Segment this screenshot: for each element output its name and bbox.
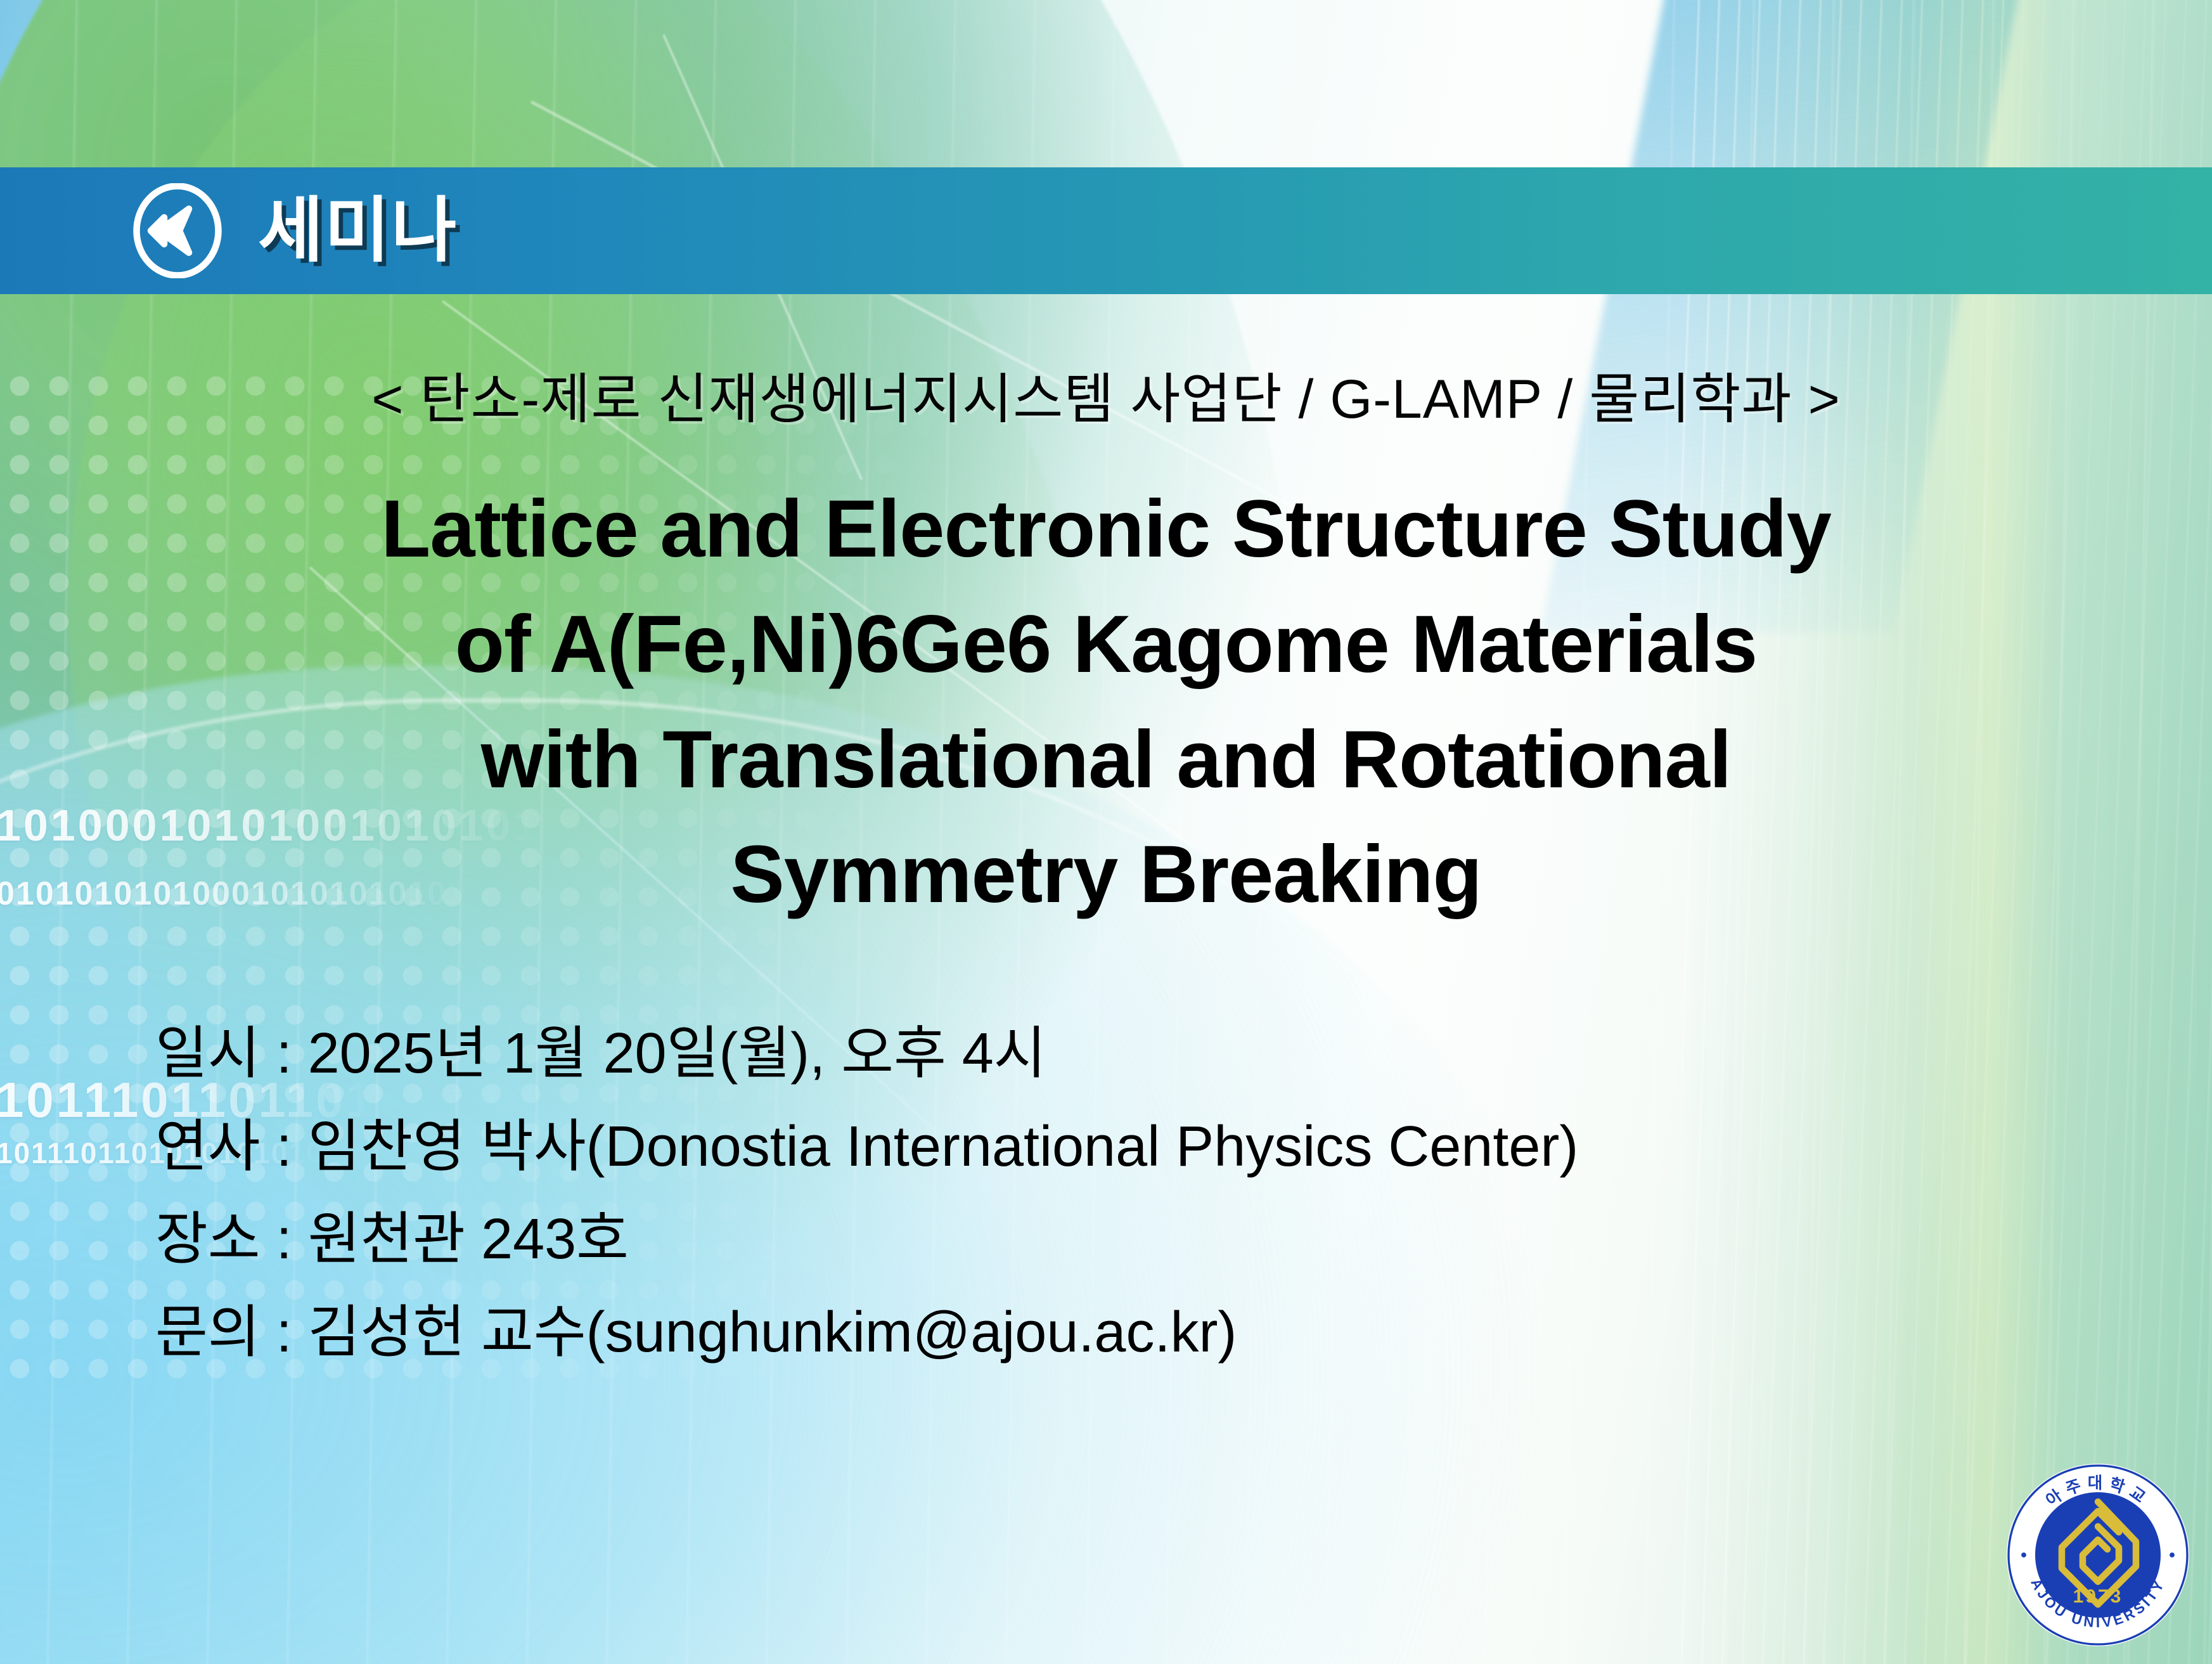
detail-speaker: 연사 : 임찬영 박사(Donostia International Physi… xyxy=(155,1100,2212,1194)
back-button[interactable] xyxy=(130,183,225,278)
detail-datetime: 일시 : 2025년 1월 20일(월), 오후 4시 xyxy=(155,1007,2212,1100)
seminar-poster: 10100010101001010101 0101010101000101010… xyxy=(0,0,2212,1664)
seminar-details: 일시 : 2025년 1월 20일(월), 오후 4시 연사 : 임찬영 박사(… xyxy=(0,1007,2212,1379)
header-bar: 세미나 xyxy=(0,167,2212,294)
organizer-subtitle: < 탄소-제로 신재생에너지시스템 사업단 / G-LAMP / 물리학과 > xyxy=(0,354,2212,434)
title-line-4: Symmetry Breaking xyxy=(70,817,2142,932)
detail-contact: 문의 : 김성헌 교수(sunghunkim@ajou.ac.kr) xyxy=(155,1286,2212,1379)
seminar-title: Lattice and Electronic Structure Study o… xyxy=(0,472,2212,932)
circle-left-arrow-icon xyxy=(130,183,225,278)
ajou-university-logo: 1973 아주대학교 AJOU UNIVERSITY xyxy=(2003,1460,2193,1650)
title-line-2: of A(Fe,Ni)6Ge6 Kagome Materials xyxy=(70,587,2142,702)
header-title: 세미나 xyxy=(258,195,458,266)
title-line-1: Lattice and Electronic Structure Study xyxy=(70,472,2142,587)
title-line-3: with Translational and Rotational xyxy=(70,702,2142,818)
poster-content: < 탄소-제로 신재생에너지시스템 사업단 / G-LAMP / 물리학과 > … xyxy=(0,294,2212,1664)
detail-location: 장소 : 원천관 243호 xyxy=(155,1193,2212,1286)
logo-year: 1973 xyxy=(2073,1586,2123,1607)
logo-dot-left xyxy=(2021,1552,2026,1558)
logo-dot-right xyxy=(2170,1552,2175,1558)
